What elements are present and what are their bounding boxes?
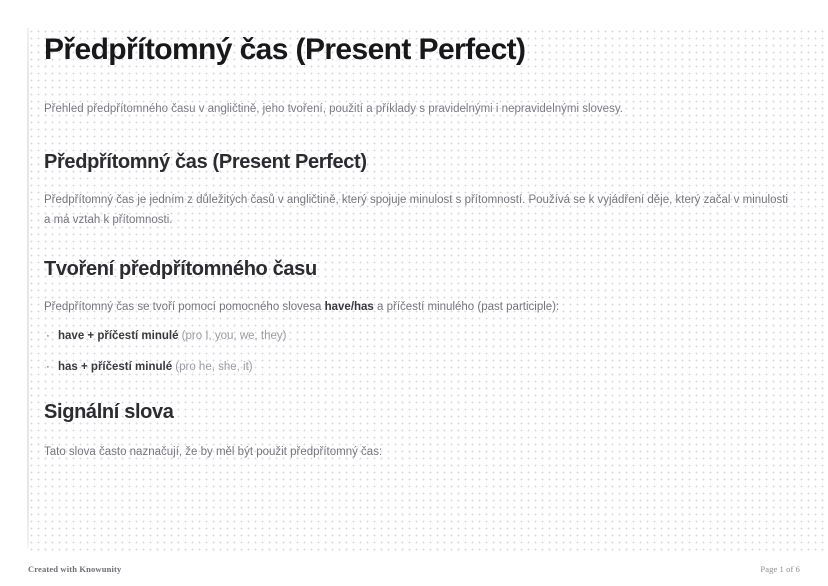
bullet-icon: · <box>46 359 50 376</box>
page-title: Předpřítomný čas (Present Perfect) <box>44 30 788 70</box>
spacer <box>44 376 788 398</box>
list-item-note: (pro he, she, it) <box>172 361 253 373</box>
section-paragraph-formation: Předpřítomný čas se tvoří pomocí pomocné… <box>44 297 788 317</box>
spacer <box>44 345 788 359</box>
document-subtitle: Přehled předpřítomného času v angličtině… <box>44 101 788 118</box>
spacer <box>44 176 788 190</box>
document-page: Předpřítomný čas (Present Perfect) Přehl… <box>0 0 828 586</box>
list-item: ·have + příčestí minulé (pro I, you, we,… <box>44 328 788 345</box>
section-paragraph-signal-words: Tato slova často naznačují, že by měl bý… <box>44 442 788 462</box>
left-margin-rule <box>27 28 29 548</box>
section-heading-present-perfect: Předpřítomný čas (Present Perfect) <box>44 148 788 176</box>
formation-text-bold: have/has <box>325 301 374 313</box>
section-heading-signal-words: Signální slova <box>44 398 788 426</box>
list-item-main: have + příčestí minulé <box>58 330 178 342</box>
formation-text-prefix: Předpřítomný čas se tvoří pomocí pomocné… <box>44 301 325 313</box>
list-item-note: (pro I, you, we, they) <box>178 330 286 342</box>
section-paragraph-present-perfect: Předpřítomný čas je jedním z důležitých … <box>44 190 788 230</box>
footer-brand: Created with Knowunity <box>28 564 121 574</box>
bullet-icon: · <box>46 328 50 345</box>
section-heading-formation: Tvoření předpřítomného času <box>44 255 788 283</box>
spacer <box>44 70 788 101</box>
footer-page-number: Page 1 of 6 <box>760 564 800 574</box>
formation-text-suffix: a příčestí minulého (past participle): <box>374 301 559 313</box>
document-content: Předpřítomný čas (Present Perfect) Přehl… <box>44 30 788 462</box>
list-item-main: has + příčestí minulé <box>58 361 172 373</box>
spacer <box>44 317 788 328</box>
spacer <box>44 118 788 148</box>
spacer <box>44 283 788 297</box>
list-item: ·has + příčestí minulé (pro he, she, it) <box>44 359 788 376</box>
spacer <box>44 230 788 255</box>
page-footer: Created with Knowunity Page 1 of 6 <box>0 552 828 586</box>
spacer <box>44 426 788 442</box>
formation-bullet-list: ·have + příčestí minulé (pro I, you, we,… <box>44 328 788 376</box>
